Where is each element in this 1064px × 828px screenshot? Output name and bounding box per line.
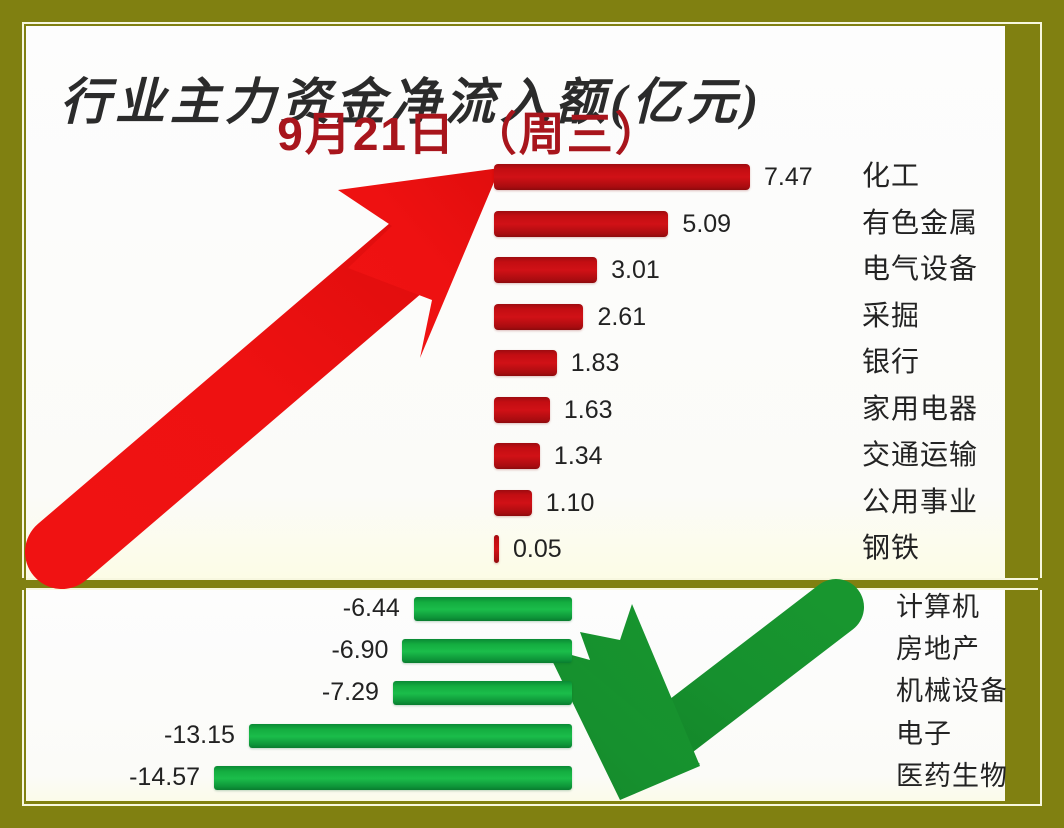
- sector-label: 房地产: [896, 632, 980, 666]
- sector-label: 银行: [862, 345, 920, 379]
- bar-value-label: 3.01: [611, 256, 660, 284]
- sector-label: 电子: [896, 717, 952, 751]
- bar-value-label: 2.61: [597, 303, 646, 331]
- bar-value-label: 7.47: [764, 163, 813, 191]
- panel-divider: [22, 578, 1042, 590]
- sector-label: 钢铁: [862, 531, 920, 565]
- sector-label: 计算机: [896, 590, 980, 624]
- infographic-poster: 行业主力资金净流入额(亿元) 9月21日 （周三） 7.47化工5.09有色金属…: [0, 0, 1064, 828]
- page-subtitle: 9月21日 （周三）: [150, 98, 790, 164]
- positive-bar: [494, 490, 532, 516]
- bar-value-label: 0.05: [513, 535, 562, 563]
- sector-label: 机械设备: [896, 674, 1008, 708]
- positive-bar: [494, 397, 550, 423]
- bar-value-label: 5.09: [682, 210, 731, 238]
- bar-value-label: -6.90: [284, 636, 388, 664]
- bar-value-label: 1.10: [546, 489, 595, 517]
- negative-bar: [393, 681, 572, 705]
- sector-label: 交通运输: [862, 438, 978, 472]
- sector-label: 公用事业: [862, 485, 978, 519]
- sector-label: 医药生物: [896, 759, 1008, 793]
- negative-bar: [402, 639, 572, 663]
- bar-value-label: -6.44: [296, 594, 400, 622]
- bar-value-label: 1.34: [554, 442, 603, 470]
- sector-label: 电气设备: [862, 252, 978, 286]
- positive-bar: [494, 443, 540, 469]
- negative-bar: [414, 597, 572, 621]
- positive-bar: [494, 164, 750, 190]
- sector-label: 有色金属: [862, 206, 978, 240]
- negative-bar: [214, 766, 572, 790]
- positive-bar: [494, 211, 668, 237]
- positive-bar: [494, 304, 583, 330]
- sector-label: 化工: [862, 159, 920, 193]
- sector-label: 家用电器: [862, 392, 978, 426]
- bar-value-label: 1.83: [571, 349, 620, 377]
- negative-bar-list: -6.44计算机-6.90房地产-7.29机械设备-13.15电子-14.57医…: [0, 590, 1064, 828]
- bar-value-label: -13.15: [131, 721, 235, 749]
- bar-value-label: -14.57: [96, 763, 200, 791]
- bar-value-label: 1.63: [564, 396, 613, 424]
- positive-bar: [494, 535, 499, 563]
- negative-bar: [249, 724, 572, 748]
- sector-label: 采掘: [862, 299, 920, 333]
- positive-bar: [494, 350, 557, 376]
- positive-bar: [494, 257, 597, 283]
- bar-value-label: -7.29: [275, 678, 379, 706]
